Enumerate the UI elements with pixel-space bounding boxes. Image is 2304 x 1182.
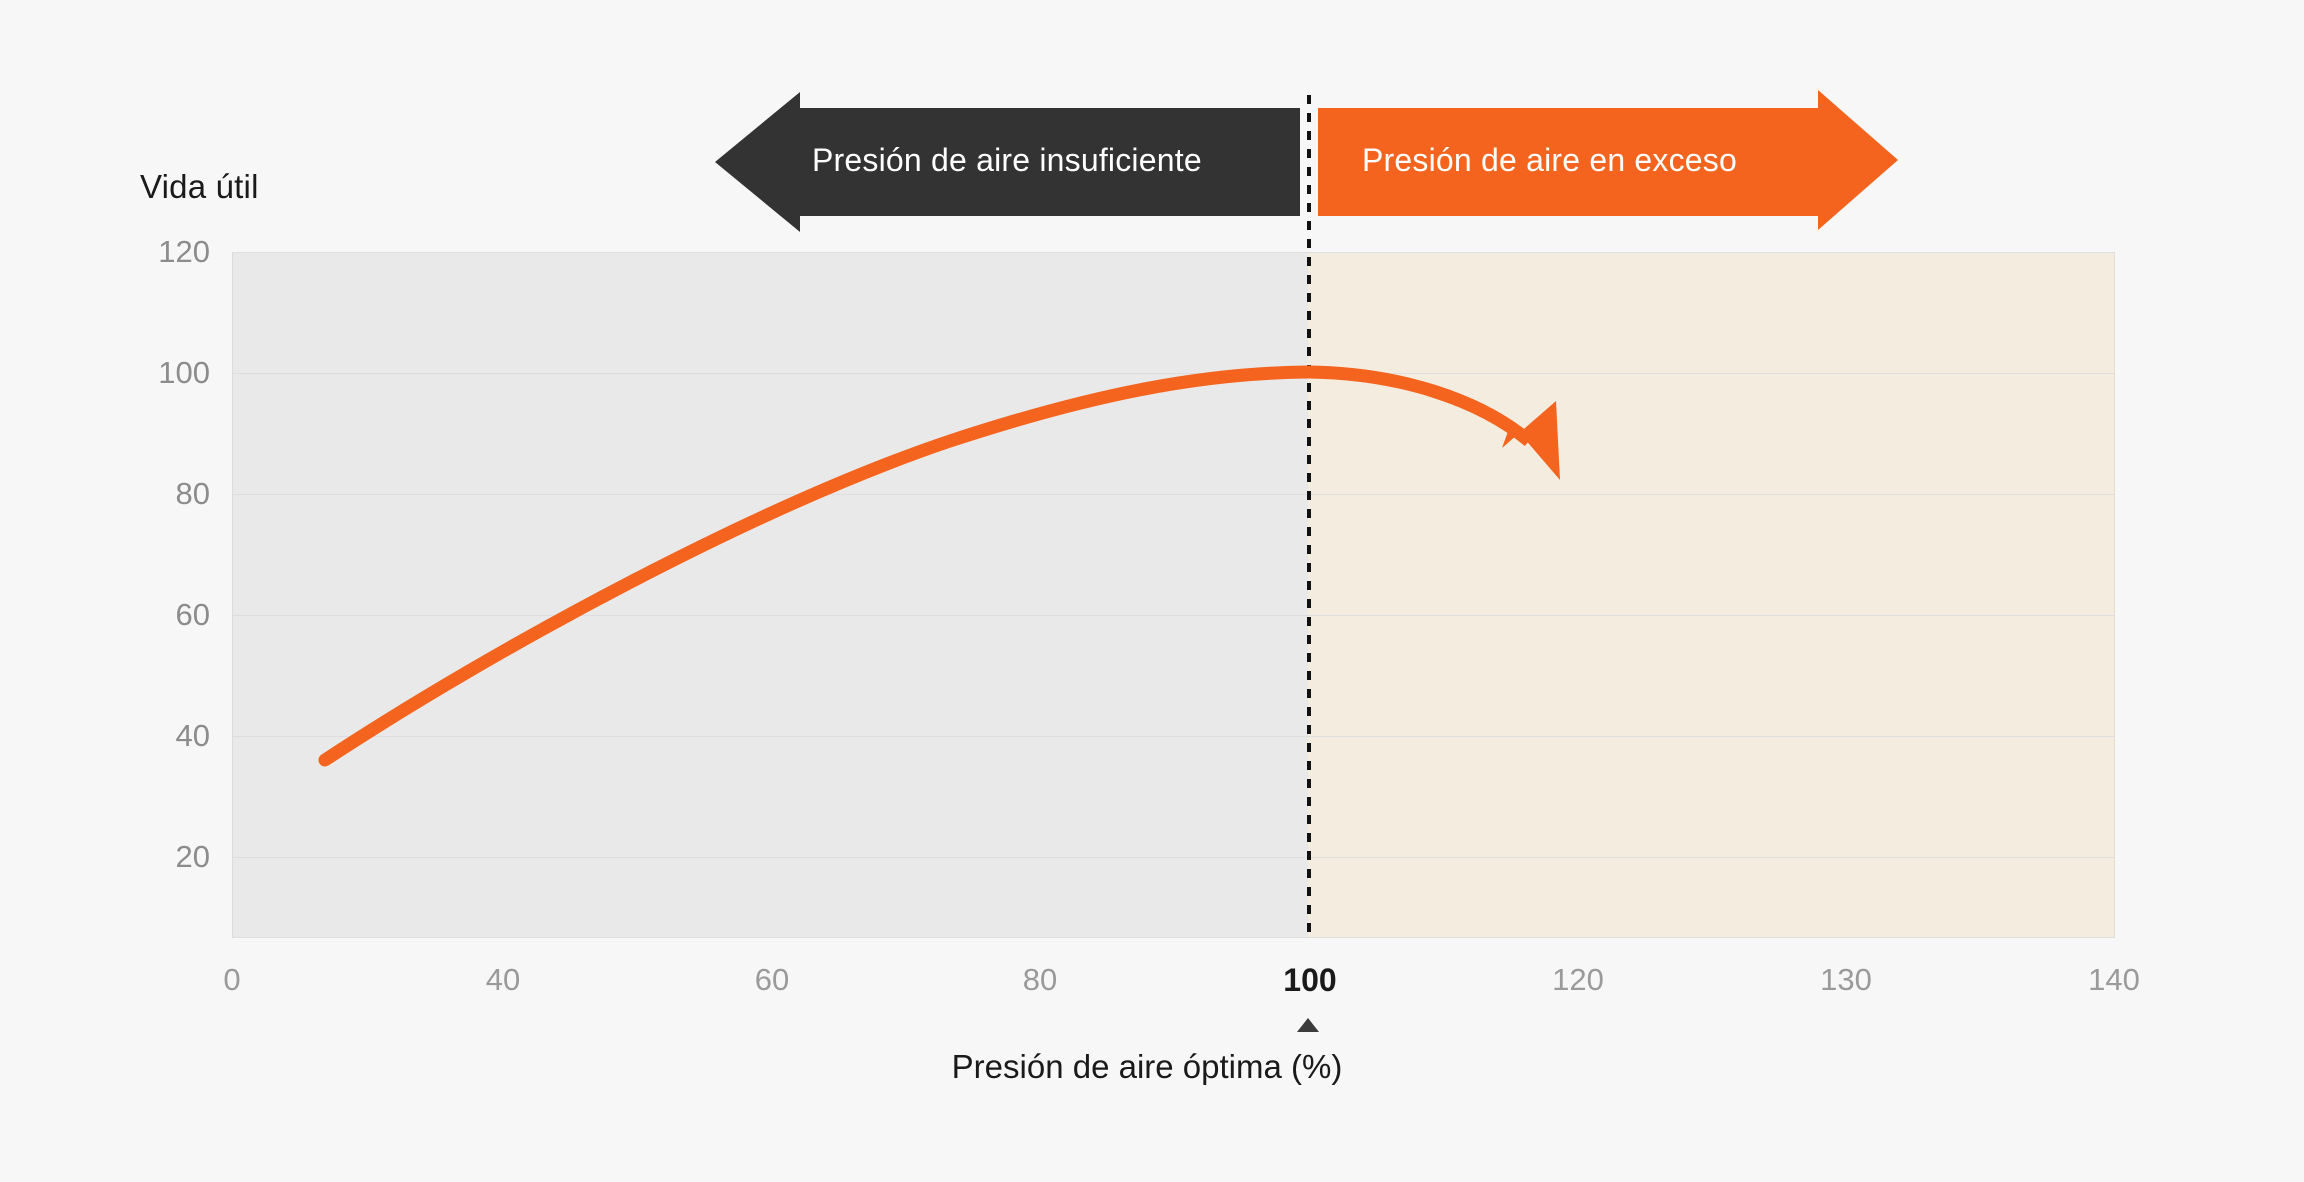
axis-baseline xyxy=(232,937,2115,938)
x-tick-80: 80 xyxy=(1023,962,1057,998)
optimum-pointer-icon xyxy=(1297,1018,1319,1032)
tire-pressure-life-chart: Vida útil 120 100 80 60 40 20 0 40 60 80… xyxy=(0,0,2304,1182)
under-pressure-region xyxy=(232,252,1308,938)
banner-arrows-svg xyxy=(0,0,2304,260)
banner-layer: Presión de aire insuficiente Presión de … xyxy=(0,0,2304,260)
x-tick-130: 130 xyxy=(1820,962,1872,998)
x-tick-100: 100 xyxy=(1283,962,1336,999)
x-tick-120: 120 xyxy=(1552,962,1604,998)
over-pressure-region xyxy=(1308,252,2115,938)
x-tick-60: 60 xyxy=(755,962,789,998)
y-tick-20: 20 xyxy=(118,839,210,875)
gridline-20 xyxy=(232,857,2115,858)
gridline-40 xyxy=(232,736,2115,737)
y-tick-40: 40 xyxy=(118,718,210,754)
y-tick-60: 60 xyxy=(118,597,210,633)
y-tick-80: 80 xyxy=(118,476,210,512)
x-tick-0: 0 xyxy=(223,962,240,998)
y-tick-100: 100 xyxy=(118,355,210,391)
gridline-60 xyxy=(232,615,2115,616)
x-axis-title: Presión de aire óptima (%) xyxy=(0,1048,2304,1086)
underinflation-banner-label: Presión de aire insuficiente xyxy=(812,142,1202,179)
overinflation-banner-label: Presión de aire en exceso xyxy=(1362,142,1737,179)
gridline-80 xyxy=(232,494,2115,495)
x-tick-40: 40 xyxy=(486,962,520,998)
gridline-100 xyxy=(232,373,2115,374)
plot-area xyxy=(232,252,2115,938)
x-axis-title-text: Presión de aire óptima (%) xyxy=(952,1048,1343,1085)
x-tick-140: 140 xyxy=(2088,962,2140,998)
